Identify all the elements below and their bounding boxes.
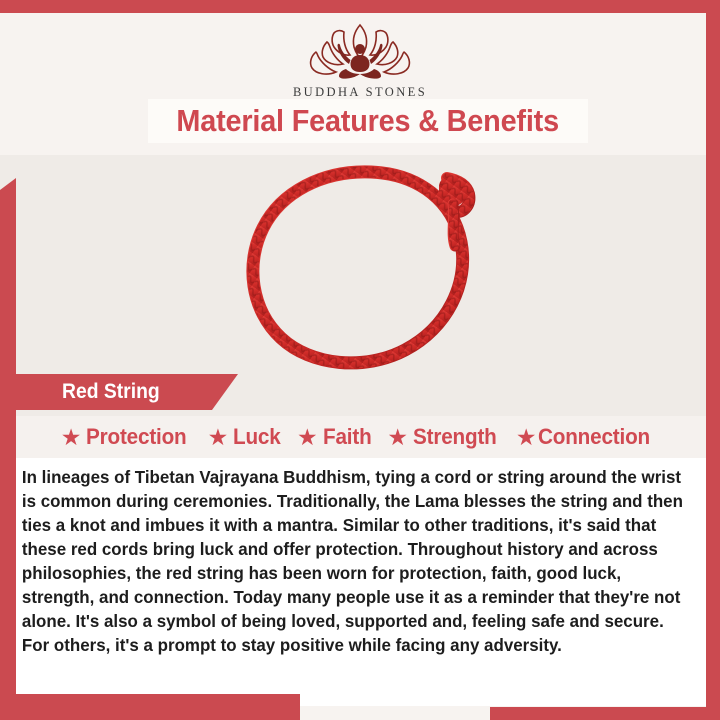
page-title-band: Material Features & Benefits [148, 99, 588, 143]
feature-list: ★ Protection ★ Luck ★ Faith ★ Strength ★… [0, 416, 720, 458]
lotus-meditation-icon [301, 21, 419, 83]
page-title: Material Features & Benefits [177, 103, 560, 139]
feature-label: Connection [538, 424, 650, 450]
product-image-area [0, 155, 720, 370]
frame-bottom-right-bar [490, 707, 720, 720]
feature-item-luck: ★ Luck [208, 424, 285, 450]
product-banner-row: Red String [0, 370, 720, 416]
star-icon: ★ [208, 426, 229, 449]
star-icon: ★ [516, 426, 537, 449]
frame-bottom-bar [0, 694, 300, 720]
frame-left-bar [0, 178, 16, 720]
brand-name: BUDDHA STONES [293, 85, 427, 100]
feature-label: Faith [323, 424, 372, 450]
star-icon: ★ [387, 426, 408, 449]
frame-right-bar [706, 0, 720, 720]
product-name-label: Red String [62, 380, 160, 404]
brand-logo: BUDDHA STONES [0, 21, 720, 100]
feature-label: Strength [413, 424, 497, 450]
star-icon: ★ [297, 426, 318, 449]
feature-item-protection: ★ Protection [61, 424, 196, 450]
feature-item-faith: ★ Faith [297, 424, 375, 450]
feature-label: Protection [86, 424, 187, 450]
feature-item-connection: ★ Connection [516, 424, 659, 450]
product-name-banner: Red String [0, 374, 238, 410]
star-icon: ★ [61, 426, 82, 449]
feature-item-strength: ★ Strength [387, 424, 504, 450]
description-block: In lineages of Tibetan Vajrayana Buddhis… [16, 458, 720, 706]
frame-top-bar [0, 0, 720, 13]
red-braided-string-bracelet-image [215, 150, 525, 380]
description-text: In lineages of Tibetan Vajrayana Buddhis… [16, 458, 709, 658]
feature-label: Luck [233, 424, 281, 450]
infographic-page: BUDDHA STONES Material Features & Benefi… [0, 0, 720, 720]
